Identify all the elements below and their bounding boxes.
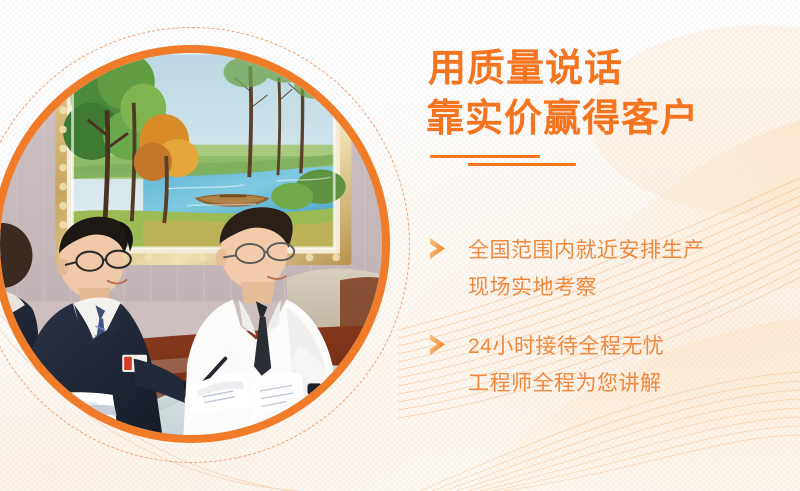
headline-line-2: 靠实价赢得客户 [426, 94, 800, 144]
bullet-2-line-2: 工程师全程为您讲解 [468, 365, 800, 402]
content-column: 用质量说话 靠实价赢得客户 [424, 0, 800, 491]
feature-bullet-list: 全国范围内就近安排生产 现场实地考察 [424, 232, 800, 424]
list-item: 全国范围内就近安排生产 现场实地考察 [424, 232, 800, 306]
hero-photo-circle [0, 45, 390, 443]
headline-block: 用质量说话 靠实价赢得客户 [428, 44, 800, 144]
chevron-right-icon [429, 237, 446, 261]
bullet-1-line-1: 全国范围内就近安排生产 [468, 232, 800, 269]
meeting-scene-illustration [0, 53, 382, 435]
hero-photo [0, 53, 382, 435]
headline-line-1: 用质量说话 [428, 44, 800, 94]
divider-rule-lower [468, 163, 576, 166]
bullet-2-line-1: 24小时接待全程无忧 [468, 328, 800, 365]
bullet-1-line-2: 现场实地考察 [468, 269, 800, 306]
list-item: 24小时接待全程无忧 工程师全程为您讲解 [424, 328, 800, 402]
headline-divider [428, 152, 688, 176]
promo-banner: 用质量说话 靠实价赢得客户 [0, 0, 800, 491]
divider-rule-upper [430, 155, 540, 158]
chevron-right-icon [429, 333, 446, 357]
